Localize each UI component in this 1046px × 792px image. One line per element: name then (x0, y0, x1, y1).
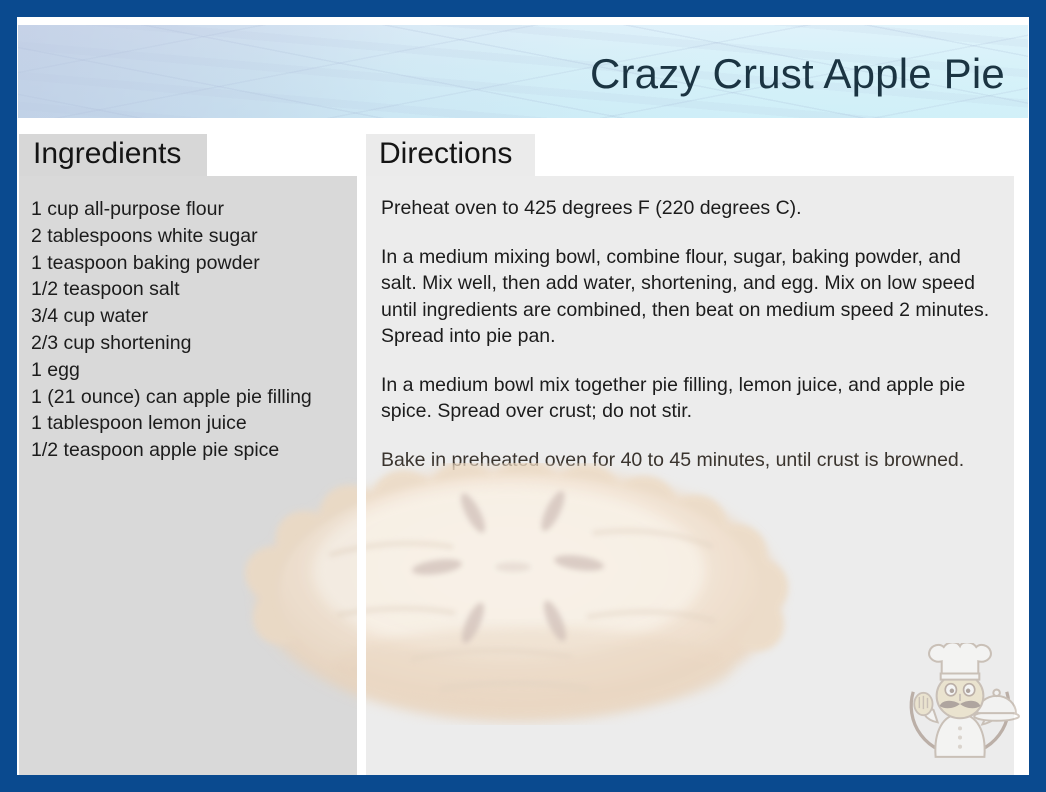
list-item: 1 teaspoon baking powder (31, 250, 349, 277)
list-item: 2 tablespoons white sugar (31, 223, 349, 250)
title-banner: Crazy Crust Apple Pie (18, 25, 1028, 118)
list-item: 1 egg (31, 357, 349, 384)
ingredients-heading-tab: Ingredients (19, 134, 207, 176)
directions-panel: Preheat oven to 425 degrees F (220 degre… (365, 176, 1014, 775)
slide-frame: Crazy Crust Apple Pie (0, 0, 1046, 792)
panel-divider (357, 126, 366, 775)
slide-content-area: Crazy Crust Apple Pie (17, 17, 1029, 775)
ingredients-list: 1 cup all-purpose flour 2 tablespoons wh… (31, 196, 349, 464)
directions-heading-tab: Directions (365, 134, 535, 176)
ingredients-heading: Ingredients (33, 134, 181, 174)
list-item: 1 cup all-purpose flour (31, 196, 349, 223)
list-item: 1/2 teaspoon salt (31, 276, 349, 303)
list-item: 1 tablespoon lemon juice (31, 410, 349, 437)
direction-step: In a medium mixing bowl, combine flour, … (381, 244, 1000, 350)
content-panels: Ingredients 1 cup all-purpose flour 2 ta… (17, 126, 1029, 775)
directions-heading: Directions (379, 134, 512, 174)
page-title: Crazy Crust Apple Pie (590, 50, 1005, 98)
directions-steps: Preheat oven to 425 degrees F (220 degre… (381, 195, 1000, 495)
list-item: 1/2 teaspoon apple pie spice (31, 437, 349, 464)
direction-step: In a medium bowl mix together pie fillin… (381, 372, 1000, 425)
ingredients-panel: 1 cup all-purpose flour 2 tablespoons wh… (19, 176, 357, 775)
direction-step: Preheat oven to 425 degrees F (220 degre… (381, 195, 1000, 222)
list-item: 2/3 cup shortening (31, 330, 349, 357)
list-item: 1 (21 ounce) can apple pie filling (31, 384, 349, 411)
list-item: 3/4 cup water (31, 303, 349, 330)
direction-step: Bake in preheated oven for 40 to 45 minu… (381, 447, 1000, 474)
